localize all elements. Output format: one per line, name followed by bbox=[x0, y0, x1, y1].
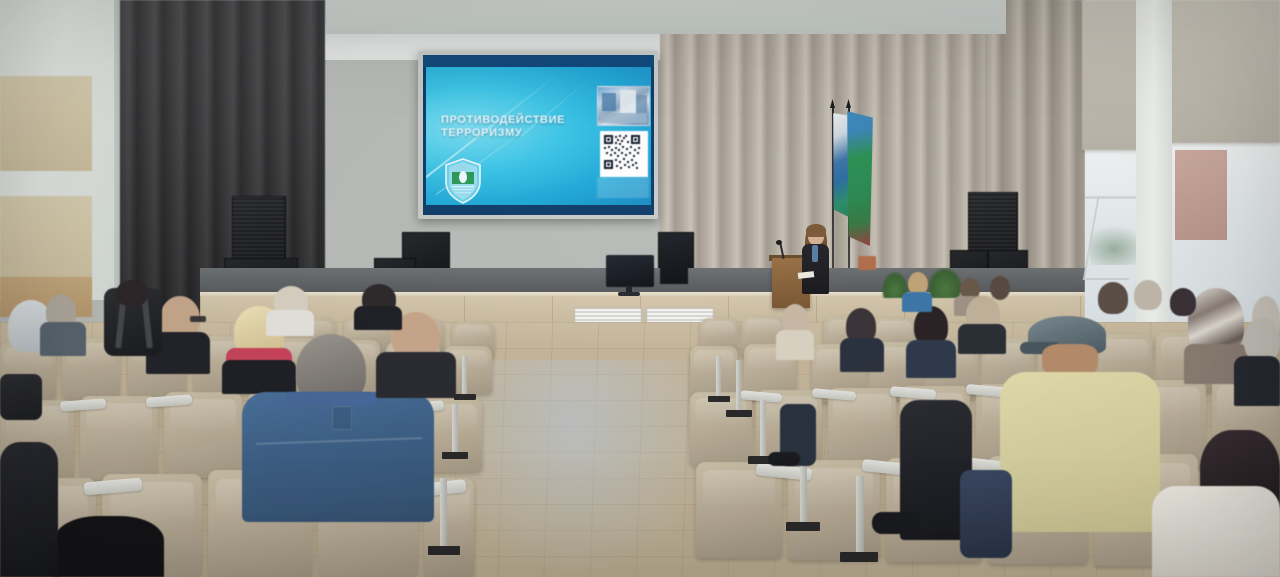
chair bbox=[828, 388, 896, 468]
audience-person-torso bbox=[376, 352, 456, 398]
chair-leg-foot bbox=[708, 396, 730, 402]
chair-leg-foot bbox=[454, 394, 476, 400]
audience-person-shoe bbox=[768, 452, 800, 466]
auditorium-photo-scene: ПРОТИВОДЕЙСТВИЕ ТЕРРОРИЗМУ bbox=[0, 0, 1280, 577]
audience-person-torso bbox=[1234, 356, 1280, 406]
shield-emblem-svg bbox=[444, 158, 482, 204]
audience-person-hair bbox=[1170, 288, 1196, 316]
audience-person-torso bbox=[40, 322, 86, 356]
window-roller-blind bbox=[1082, 0, 1140, 150]
stage-monitor bbox=[606, 255, 654, 287]
slide-title-line1: ПРОТИВОДЕЙСТВИЕ bbox=[441, 114, 581, 127]
qr-code-svg bbox=[602, 133, 642, 171]
qr-code-icon bbox=[600, 131, 648, 177]
denim-collar bbox=[286, 392, 376, 406]
chair-leg bbox=[760, 400, 766, 458]
audience-person-coat bbox=[1152, 486, 1280, 577]
audience-person-torso bbox=[776, 330, 814, 360]
audience-person-foreground bbox=[0, 442, 58, 577]
chair bbox=[690, 392, 752, 466]
audience-person-torso bbox=[1000, 372, 1160, 532]
slide-caption-text-block bbox=[597, 178, 649, 198]
flag-national bbox=[847, 111, 873, 246]
chair-leg bbox=[462, 356, 467, 396]
audience-person bbox=[116, 280, 148, 306]
audience-person-torso bbox=[222, 360, 296, 394]
stage-plant bbox=[928, 268, 962, 298]
chair-leg-foot bbox=[786, 522, 820, 531]
audience-person-foreground bbox=[54, 516, 164, 577]
building-outside bbox=[1175, 150, 1227, 240]
audience-person-torso bbox=[958, 324, 1006, 354]
thumbnail-detail bbox=[602, 93, 616, 111]
slide-title: ПРОТИВОДЕЙСТВИЕ ТЕРРОРИЗМУ bbox=[441, 114, 581, 140]
audience-person-torso bbox=[840, 338, 884, 372]
chair-leg-foot bbox=[442, 452, 468, 459]
chair-leg-foot bbox=[428, 546, 460, 555]
chair-leg-foot bbox=[840, 552, 878, 562]
audience-person-torso bbox=[902, 292, 932, 312]
microphone-icon bbox=[776, 240, 782, 245]
thumbnail-detail bbox=[600, 113, 647, 123]
audience-person-torso bbox=[354, 306, 402, 330]
chair-leg bbox=[440, 478, 447, 550]
audience-bag bbox=[0, 374, 42, 420]
slide-top-border bbox=[423, 55, 654, 67]
speaker-hair-top bbox=[806, 224, 826, 237]
chair-leg bbox=[736, 360, 741, 412]
audience-person-leg bbox=[960, 470, 1012, 558]
chair-leg bbox=[452, 404, 458, 456]
deck-speaker bbox=[660, 234, 688, 284]
audience-glasses-icon bbox=[190, 316, 206, 322]
slide-photo-thumbnail bbox=[597, 86, 650, 126]
stage-pot bbox=[858, 256, 876, 270]
thumbnail-detail bbox=[636, 95, 647, 115]
stage-back-wall bbox=[326, 0, 1006, 34]
denim-pocket bbox=[332, 406, 352, 430]
chair-leg-foot bbox=[726, 410, 752, 417]
audience-person-hair bbox=[1098, 282, 1128, 314]
audience-person bbox=[990, 276, 1010, 300]
monitor-base bbox=[618, 292, 640, 296]
audience-person-hair bbox=[1134, 280, 1162, 310]
wall-acoustic-panel bbox=[0, 76, 92, 171]
audience-person-torso bbox=[906, 340, 956, 378]
chair-leg bbox=[856, 476, 864, 558]
shield-emblem-icon bbox=[444, 158, 482, 204]
audience-person-shoe bbox=[872, 512, 920, 534]
speaker-scarf bbox=[812, 245, 818, 262]
window-roller-blind bbox=[1168, 0, 1280, 143]
slide-title-line2: ТЕРРОРИЗМУ bbox=[441, 127, 581, 140]
chair-leg bbox=[716, 356, 721, 398]
slide-bottom-border bbox=[423, 205, 654, 215]
audience-person-torso bbox=[266, 310, 314, 336]
